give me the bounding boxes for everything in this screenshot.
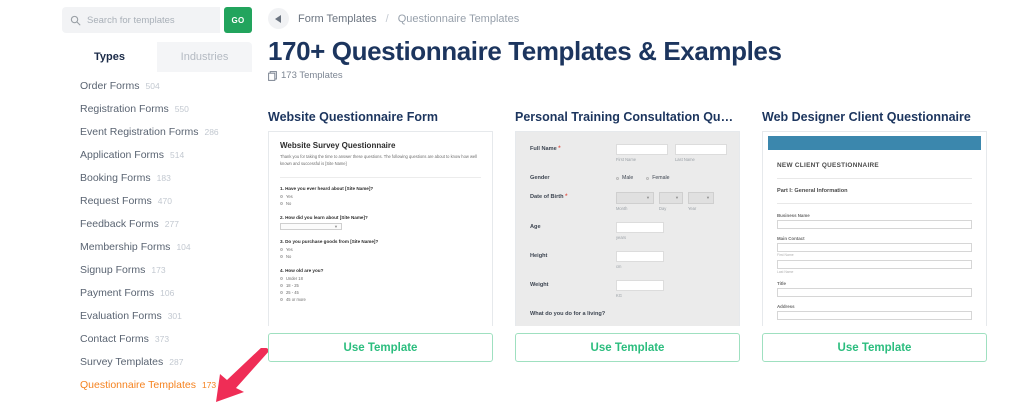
option-label: No	[286, 254, 291, 259]
sidebar-item-registration-forms[interactable]: Registration Forms 550	[62, 103, 254, 126]
sidebar-item-count: 173	[151, 265, 165, 275]
required-marker: *	[565, 194, 567, 200]
field-label: What do you do for a living?	[530, 309, 605, 317]
template-preview[interactable]: Full Name * First Name Last Name Gender …	[515, 131, 740, 326]
main-content: Form Templates / Questionnaire Templates…	[268, 0, 1024, 412]
template-gallery-page: GO Types Industries Order Forms 504 Regi…	[0, 0, 1024, 412]
sidebar-item-evaluation-forms[interactable]: Evaluation Forms 301	[62, 310, 254, 333]
search-box[interactable]	[62, 7, 220, 33]
field-label: Weight	[530, 280, 616, 288]
sidebar-item-label: Survey Templates	[80, 356, 163, 368]
question-option[interactable]: No	[280, 201, 481, 206]
tab-types[interactable]: Types	[62, 42, 157, 72]
option-label: 18 - 25	[286, 283, 299, 288]
radio-icon	[280, 202, 283, 205]
radio-icon	[280, 277, 283, 280]
preview-divider	[777, 203, 972, 204]
sidebar-item-request-forms[interactable]: Request Forms 470	[62, 195, 254, 218]
radio-icon	[280, 195, 283, 198]
sidebar-item-order-forms[interactable]: Order Forms 504	[62, 80, 254, 103]
sidebar-item-label: Booking Forms	[80, 172, 151, 184]
preview-field: What do you do for a living?	[530, 309, 725, 317]
chevron-down-icon: ▼	[334, 225, 338, 229]
field-label: Title	[777, 281, 972, 286]
field-label: Height	[530, 251, 616, 259]
business-name-input[interactable]	[777, 220, 972, 229]
main-contact-last-name-input[interactable]	[777, 260, 972, 269]
preview-field: Business Name	[777, 213, 972, 229]
radio-icon	[280, 291, 283, 294]
preview-field: Address	[777, 304, 972, 320]
preview-field: Date of Birth * ▼Month ▼Day ▼Year	[530, 192, 725, 211]
field-label: Full Name *	[530, 144, 616, 152]
field-sublabel: Year	[688, 206, 714, 211]
breadcrumb-questionnaire-templates[interactable]: Questionnaire Templates	[398, 13, 519, 25]
option-label: 45 or more	[286, 297, 306, 302]
template-card[interactable]: Web Designer Client Questionnaire NEW CL…	[762, 110, 987, 362]
sidebar-tabs: Types Industries	[62, 42, 252, 72]
option-label: Under 18	[286, 276, 303, 281]
sidebar-item-application-forms[interactable]: Application Forms 514	[62, 149, 254, 172]
sidebar-item-label: Membership Forms	[80, 241, 170, 253]
sidebar-item-count: 106	[160, 288, 174, 298]
template-preview[interactable]: Website Survey Questionnaire Thank you f…	[268, 131, 493, 326]
sidebar: GO Types Industries Order Forms 504 Regi…	[62, 0, 254, 412]
template-card[interactable]: Personal Training Consultation Ques... F…	[515, 110, 740, 362]
address-input[interactable]	[777, 311, 972, 320]
question-select[interactable]: ▼	[280, 223, 342, 230]
question-option[interactable]: Yes	[280, 247, 481, 252]
preview-field: Full Name * First Name Last Name	[530, 144, 725, 162]
field-sublabel: First Name	[616, 157, 668, 162]
field-label: Business Name	[777, 213, 972, 218]
question-option[interactable]: 25 - 45	[280, 290, 481, 295]
sidebar-item-count: 287	[169, 357, 183, 367]
preview-field: Main Contact First Name Last Name	[777, 236, 972, 274]
option-label: Male	[622, 175, 633, 181]
back-button[interactable]	[268, 8, 289, 29]
chevron-down-icon: ▼	[706, 196, 710, 200]
chevron-down-icon: ▼	[646, 196, 650, 200]
radio-icon	[646, 177, 649, 180]
year-select[interactable]: ▼	[688, 192, 714, 204]
field-sublabel: Last Name	[675, 157, 727, 162]
sidebar-item-label: Evaluation Forms	[80, 310, 162, 322]
sidebar-item-count: 470	[158, 196, 172, 206]
preview-field: Weight KG	[530, 280, 725, 298]
sidebar-item-questionnaire-templates[interactable]: Questionnaire Templates 173	[62, 379, 254, 402]
required-marker: *	[558, 146, 560, 152]
sidebar-item-label: Questionnaire Templates	[80, 379, 196, 391]
template-card[interactable]: Website Questionnaire Form Website Surve…	[268, 110, 493, 362]
preview-field: Age years	[530, 222, 725, 240]
page-title: 170+ Questionnaire Templates & Examples	[268, 36, 782, 67]
sidebar-item-count: 286	[204, 127, 218, 137]
sidebar-item-membership-forms[interactable]: Membership Forms 104	[62, 241, 254, 264]
search-bar: GO	[62, 7, 252, 33]
template-card-grid: Website Questionnaire Form Website Surve…	[268, 110, 988, 362]
question-option[interactable]: 18 - 25	[280, 283, 481, 288]
sidebar-item-count: 514	[170, 150, 184, 160]
search-input[interactable]	[87, 15, 220, 26]
question-text: 1. Have you ever heard about [Site Name]…	[280, 186, 481, 191]
sidebar-item-count: 373	[155, 334, 169, 344]
question-option[interactable]: Under 18	[280, 276, 481, 281]
question-option[interactable]: Yes	[280, 194, 481, 199]
template-count-text: 173 Templates	[281, 70, 343, 81]
sidebar-item-count: 550	[175, 104, 189, 114]
sidebar-item-signup-forms[interactable]: Signup Forms 173	[62, 264, 254, 287]
template-count: 173 Templates	[268, 70, 343, 81]
sidebar-item-booking-forms[interactable]: Booking Forms 183	[62, 172, 254, 195]
preview-divider	[777, 178, 972, 179]
copy-stack-icon	[268, 71, 277, 81]
field-label: Age	[530, 222, 616, 230]
gender-option-female[interactable]: Female	[646, 175, 669, 181]
field-unit: KG	[616, 293, 725, 298]
question-text: 4. How old are you?	[280, 268, 481, 273]
category-list: Order Forms 504 Registration Forms 550 E…	[62, 80, 254, 402]
sidebar-item-count: 173	[202, 380, 216, 390]
preview-question: 2. How did you learn about [Site Name]? …	[280, 215, 481, 230]
radio-icon	[280, 255, 283, 258]
sidebar-item-survey-templates[interactable]: Survey Templates 287	[62, 356, 254, 379]
preview-question: 4. How old are you? Under 18 18 - 25 25 …	[280, 268, 481, 302]
field-sublabel: Day	[659, 206, 683, 211]
field-label: Gender	[530, 173, 616, 181]
option-label: Yes	[286, 247, 293, 252]
question-option[interactable]: No	[280, 254, 481, 259]
field-sublabel: First Name	[777, 253, 972, 257]
age-input[interactable]	[616, 222, 664, 233]
search-icon	[70, 15, 81, 26]
field-sublabel: Last Name	[777, 270, 972, 274]
radio-icon	[280, 284, 283, 287]
option-label: Female	[652, 175, 669, 181]
sidebar-item-label: Event Registration Forms	[80, 126, 198, 138]
sidebar-item-count: 183	[157, 173, 171, 183]
sidebar-item-count: 277	[165, 219, 179, 229]
preview-divider	[280, 177, 481, 178]
sidebar-item-label: Request Forms	[80, 195, 152, 207]
preview-field: Height cm	[530, 251, 725, 269]
month-select[interactable]: ▼	[616, 192, 654, 204]
option-label: No	[286, 201, 291, 206]
radio-icon	[616, 177, 619, 180]
option-label: 25 - 45	[286, 290, 299, 295]
use-template-button[interactable]: Use Template	[268, 333, 493, 362]
sidebar-item-payment-forms[interactable]: Payment Forms 106	[62, 287, 254, 310]
title-input[interactable]	[777, 288, 972, 297]
template-card-title: Web Designer Client Questionnaire	[762, 110, 987, 124]
sidebar-item-feedback-forms[interactable]: Feedback Forms 277	[62, 218, 254, 241]
template-card-title: Website Questionnaire Form	[268, 110, 493, 124]
field-unit: cm	[616, 264, 725, 269]
template-card-title: Personal Training Consultation Ques...	[515, 110, 740, 124]
field-label: Date of Birth *	[530, 192, 616, 200]
preview-heading: NEW CLIENT QUESTIONNAIRE	[777, 162, 972, 169]
field-label: Address	[777, 304, 972, 309]
template-preview[interactable]: NEW CLIENT QUESTIONNAIRE Part I: General…	[762, 131, 987, 326]
sidebar-item-count: 301	[168, 311, 182, 321]
sidebar-item-label: Order Forms	[80, 80, 140, 92]
field-label: Main Contact	[777, 236, 972, 241]
sidebar-item-label: Contact Forms	[80, 333, 149, 345]
search-go-button[interactable]: GO	[224, 7, 252, 33]
sidebar-item-label: Feedback Forms	[80, 218, 159, 230]
question-text: 3. Do you purchase goods from [Site Name…	[280, 239, 481, 244]
main-contact-first-name-input[interactable]	[777, 243, 972, 252]
breadcrumb: Form Templates / Questionnaire Templates	[268, 8, 519, 29]
use-template-button[interactable]: Use Template	[515, 333, 740, 362]
field-unit: years	[616, 235, 725, 240]
back-arrow-icon	[275, 15, 282, 23]
use-template-button[interactable]: Use Template	[762, 333, 987, 362]
question-text: 2. How did you learn about [Site Name]?	[280, 215, 481, 220]
tab-industries[interactable]: Industries	[157, 42, 252, 72]
sidebar-item-label: Signup Forms	[80, 264, 145, 276]
chevron-down-icon: ▼	[675, 196, 679, 200]
question-option[interactable]: 45 or more	[280, 297, 481, 302]
day-select[interactable]: ▼	[659, 192, 683, 204]
breadcrumb-separator: /	[386, 13, 389, 25]
option-label: Yes	[286, 194, 293, 199]
preview-field: Gender Male Female	[530, 173, 725, 181]
preview-heading: Website Survey Questionnaire	[280, 141, 481, 150]
last-name-input[interactable]	[675, 144, 727, 155]
gender-option-male[interactable]: Male	[616, 175, 633, 181]
radio-icon	[280, 248, 283, 251]
sidebar-item-count: 504	[146, 81, 160, 91]
preview-field: Title	[777, 281, 972, 297]
sidebar-item-count: 104	[176, 242, 190, 252]
sidebar-item-label: Application Forms	[80, 149, 164, 161]
preview-header-bar	[768, 136, 981, 150]
radio-icon	[280, 298, 283, 301]
height-input[interactable]	[616, 251, 664, 262]
sidebar-item-label: Payment Forms	[80, 287, 154, 299]
breadcrumb-form-templates[interactable]: Form Templates	[298, 13, 377, 25]
sidebar-item-contact-forms[interactable]: Contact Forms 373	[62, 333, 254, 356]
preview-section-title: Part I: General Information	[777, 188, 972, 194]
sidebar-item-event-registration-forms[interactable]: Event Registration Forms 286	[62, 126, 254, 149]
preview-question: 3. Do you purchase goods from [Site Name…	[280, 239, 481, 259]
weight-input[interactable]	[616, 280, 664, 291]
field-sublabel: Month	[616, 206, 654, 211]
preview-question: 1. Have you ever heard about [Site Name]…	[280, 186, 481, 206]
sidebar-item-label: Registration Forms	[80, 103, 169, 115]
preview-description: Thank you for taking the time to answer …	[280, 154, 481, 167]
first-name-input[interactable]	[616, 144, 668, 155]
